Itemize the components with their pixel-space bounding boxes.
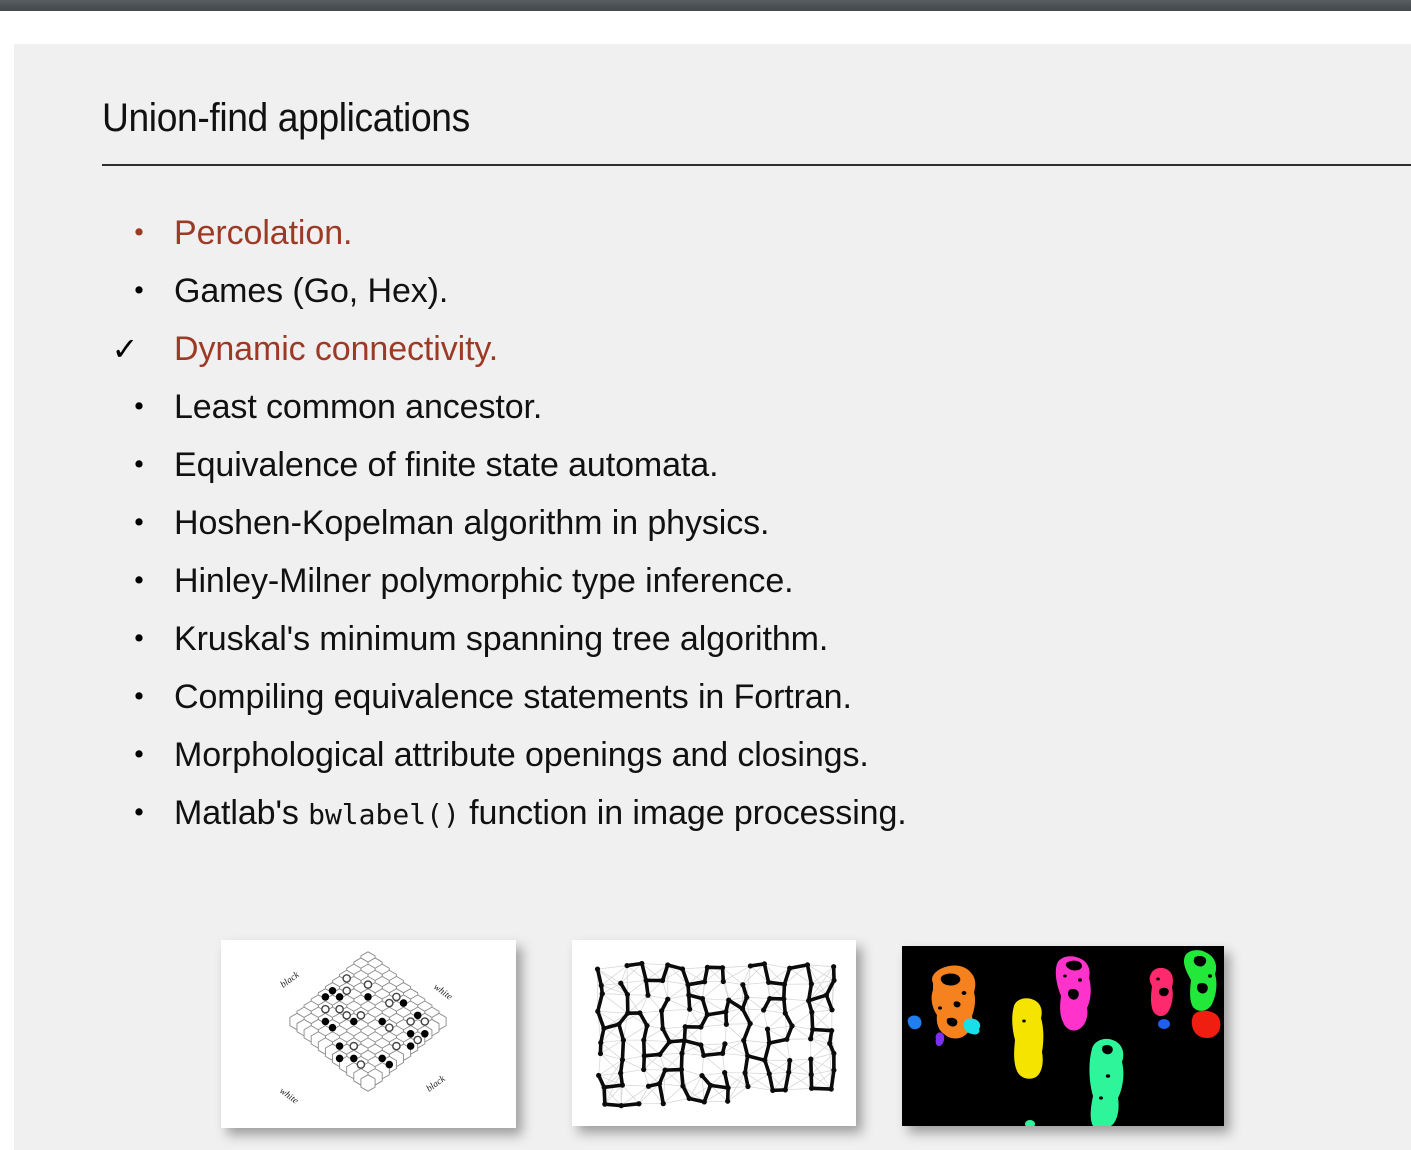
- slide-surface: Union-find applications • Percolation. •…: [14, 44, 1411, 1150]
- hex-board-figure: black white white black: [221, 940, 516, 1128]
- hex-label-black-top: black: [279, 970, 302, 991]
- connected-components-graphic: [902, 946, 1224, 1126]
- blob-blue-dot: [1158, 1019, 1170, 1029]
- hex-label-white-bottom: white: [277, 1086, 300, 1106]
- connected-components-figure: [902, 946, 1224, 1126]
- hex-board-graphic: black white white black: [221, 940, 516, 1128]
- hex-label-white-top: white: [431, 982, 454, 1002]
- hex-label-black-bottom: black: [425, 1074, 448, 1095]
- window-top-bar: [0, 0, 1411, 11]
- blob-yellow: [1012, 998, 1043, 1079]
- mst-figure: [572, 940, 856, 1126]
- mst-graphic: [572, 940, 856, 1126]
- figure-strip: black white white black: [14, 44, 1411, 1150]
